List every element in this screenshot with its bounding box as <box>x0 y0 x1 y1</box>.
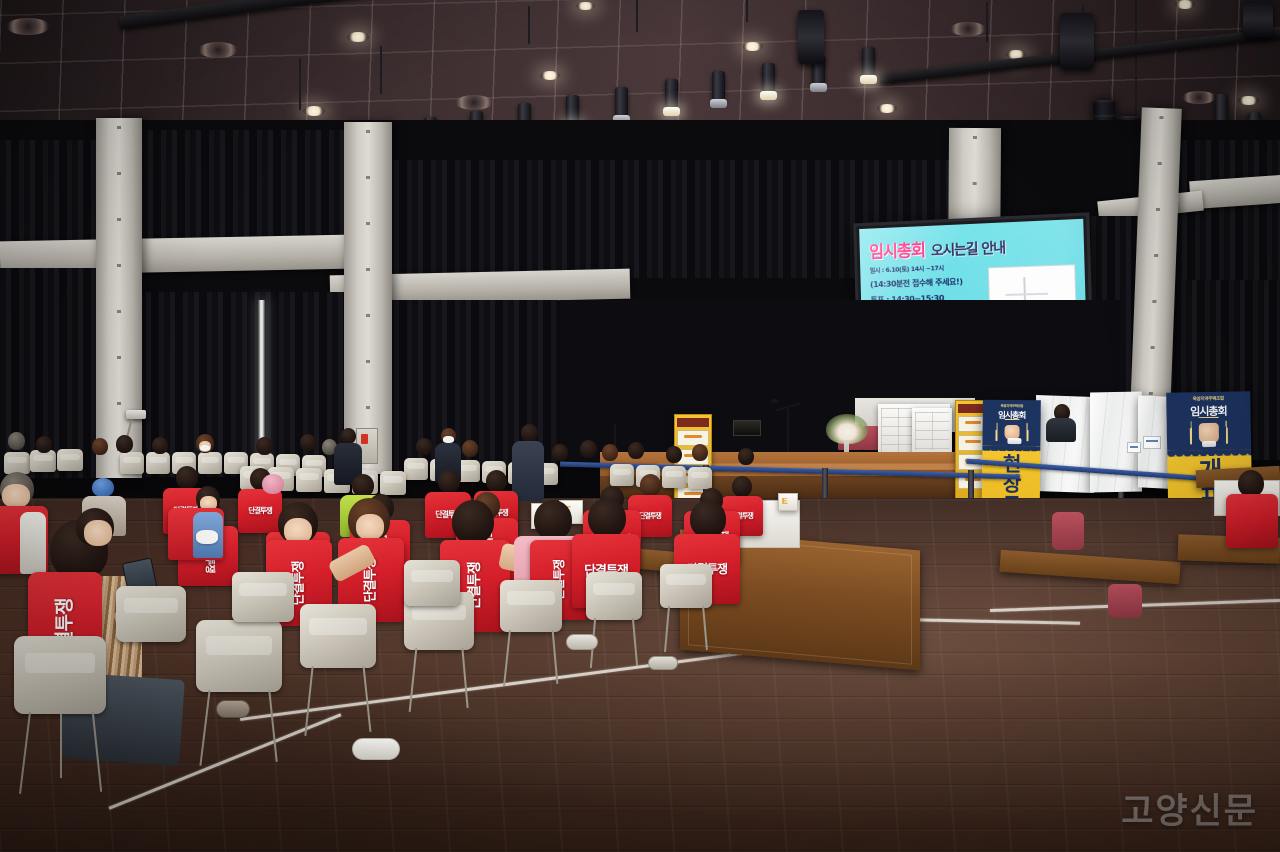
voting-booth-notice <box>1127 442 1141 453</box>
folding-chair <box>300 604 376 668</box>
stage-monitor-display <box>733 420 761 436</box>
folding-chair <box>660 564 712 608</box>
ceiling-downlight <box>540 71 560 80</box>
audience-head <box>256 437 273 455</box>
ballot-counting-table <box>912 408 952 454</box>
ceiling-hanger-rod <box>380 46 382 94</box>
screen-title-main: 임시총회 <box>869 236 926 263</box>
microphone-capsule <box>771 399 778 403</box>
shoe <box>352 738 400 760</box>
audience-head <box>352 474 374 497</box>
fist-icon <box>1004 425 1019 440</box>
screen-info-line: (14:30분전 접수해 주세요!) <box>870 273 1017 290</box>
fist-icon <box>1199 423 1219 443</box>
folding-chair <box>380 471 406 495</box>
staff-body <box>1046 418 1076 442</box>
ceiling-hanger-rod <box>299 58 301 110</box>
screen-title-sub: 오시는길 안내 <box>931 238 1006 261</box>
folding-chair <box>57 449 83 471</box>
screen-title-row: 임시총회 오시는길 안내 <box>869 229 1076 262</box>
audience-face <box>2 484 30 508</box>
shoe <box>566 634 598 650</box>
audience-head-with-cap <box>262 474 284 494</box>
audience-head <box>452 500 494 544</box>
folding-chair <box>116 586 186 642</box>
ceiling-hanger-rod <box>986 2 988 42</box>
face-mask <box>196 530 218 544</box>
ceiling-vent <box>455 95 493 110</box>
red-vest: 단결투쟁 <box>238 489 282 533</box>
ceiling-vent <box>198 42 238 58</box>
moving-head-light <box>1060 13 1094 69</box>
audience-head <box>438 470 460 493</box>
audience-head <box>640 474 661 496</box>
ceiling-hanger-rod <box>746 0 748 22</box>
ceiling-projector <box>126 410 146 419</box>
red-vest <box>1226 494 1278 548</box>
audience-head <box>738 448 754 465</box>
auditorium-photo: 임시총회 오시는길 안내 일시 : 6.10(토) 14시 ~17시 (14:3… <box>0 0 1280 852</box>
staff-body <box>512 441 544 501</box>
audience-head-with-cap <box>92 478 114 497</box>
ceiling-downlight <box>742 42 763 51</box>
folding-chair <box>30 450 56 472</box>
folding-chair <box>404 560 460 606</box>
audience-head <box>692 444 708 461</box>
stage-spotlight <box>615 87 628 117</box>
concrete-column <box>96 118 142 478</box>
vest-slogan: 단결투쟁 <box>248 507 272 515</box>
audience-face <box>356 514 384 540</box>
ceiling-vent <box>6 18 50 35</box>
audience-head <box>8 432 25 450</box>
audience-head <box>486 470 507 492</box>
banner-org-name: 욱암지역주택조합 <box>984 403 1040 409</box>
audience-head <box>300 434 316 451</box>
voting-booth-notice <box>1143 436 1161 449</box>
staff-head <box>341 428 356 444</box>
ballot-box <box>778 493 798 511</box>
banner-header: 욱암지역주택조합 임시총회 <box>982 400 1040 447</box>
side-chair <box>1108 584 1142 618</box>
stage-spotlight <box>712 71 725 101</box>
audience-head <box>732 476 752 497</box>
audience-head <box>116 435 133 453</box>
ceiling-downlight <box>347 32 369 42</box>
chair-leg <box>60 714 62 778</box>
folding-chair <box>296 468 322 492</box>
folding-chair <box>232 572 294 622</box>
info-stand-header <box>677 418 709 427</box>
folding-chair <box>120 452 144 474</box>
ceiling-downlight <box>303 106 325 116</box>
screen-info-line: 일시 : 6.10(토) 14시 ~17시 <box>870 260 1016 274</box>
ceiling-downlight <box>877 104 897 113</box>
stage-spotlight <box>762 63 775 93</box>
audience-head <box>552 444 568 461</box>
stage-curtain-lower <box>140 292 350 477</box>
audience-head <box>666 446 682 463</box>
folding-chair <box>662 466 686 488</box>
folding-chair <box>146 452 170 474</box>
info-stand-row <box>677 430 709 446</box>
vest-slogan: 단결투쟁 <box>639 513 661 520</box>
flower-arrangement <box>826 414 868 444</box>
ceiling-hanger-rod <box>528 6 530 44</box>
moving-head-light <box>1243 1 1273 37</box>
concrete-column <box>344 122 392 474</box>
audience-head <box>1238 470 1264 497</box>
face-mask <box>443 436 454 443</box>
ceiling-downlight <box>576 2 595 10</box>
audience-head <box>602 444 618 461</box>
audience-head <box>534 500 572 540</box>
ceiling-vent <box>950 22 986 36</box>
audience-head <box>462 440 478 457</box>
audience-head <box>36 436 52 453</box>
ceiling-hanger-rod <box>1135 0 1137 118</box>
audience-head <box>628 442 644 459</box>
folding-chair <box>196 620 282 692</box>
vest-slogan: 단결투쟁 <box>293 561 306 605</box>
audience-head <box>690 500 726 538</box>
folding-chair <box>688 467 712 489</box>
folding-chair <box>500 580 562 632</box>
audience-body <box>20 512 46 574</box>
ceiling-downlight <box>1175 0 1195 9</box>
banner-header: 욱암지역주택조합 임시총회 <box>1166 391 1251 450</box>
audience-head <box>416 438 432 455</box>
shoe <box>648 656 678 670</box>
audience-head <box>176 466 198 489</box>
folding-chair <box>610 464 634 486</box>
folding-chair <box>4 452 30 474</box>
folding-chair <box>404 458 428 480</box>
stage-spotlight <box>665 79 678 109</box>
shoe <box>216 700 250 718</box>
audience-head <box>588 498 626 538</box>
audience-head <box>152 437 168 454</box>
face-mask <box>200 445 210 451</box>
audience-head <box>92 438 108 455</box>
folding-chair <box>586 572 642 620</box>
audience-face <box>84 520 112 546</box>
ceiling-vent <box>1182 91 1216 104</box>
stage-curtain-upper <box>0 140 98 252</box>
moving-head-light <box>798 10 824 64</box>
audience-head <box>580 440 597 458</box>
ceiling-downlight <box>1238 96 1259 105</box>
staff-head <box>521 424 538 442</box>
folding-chair <box>198 452 222 474</box>
ceiling-hanger-rod <box>636 0 638 32</box>
folding-chair <box>14 636 106 714</box>
stage-spotlight <box>862 47 875 77</box>
emergency-button <box>361 434 368 444</box>
side-chair <box>1052 512 1084 550</box>
column-bolt-line <box>366 130 370 466</box>
column-bolt-line <box>117 126 121 470</box>
